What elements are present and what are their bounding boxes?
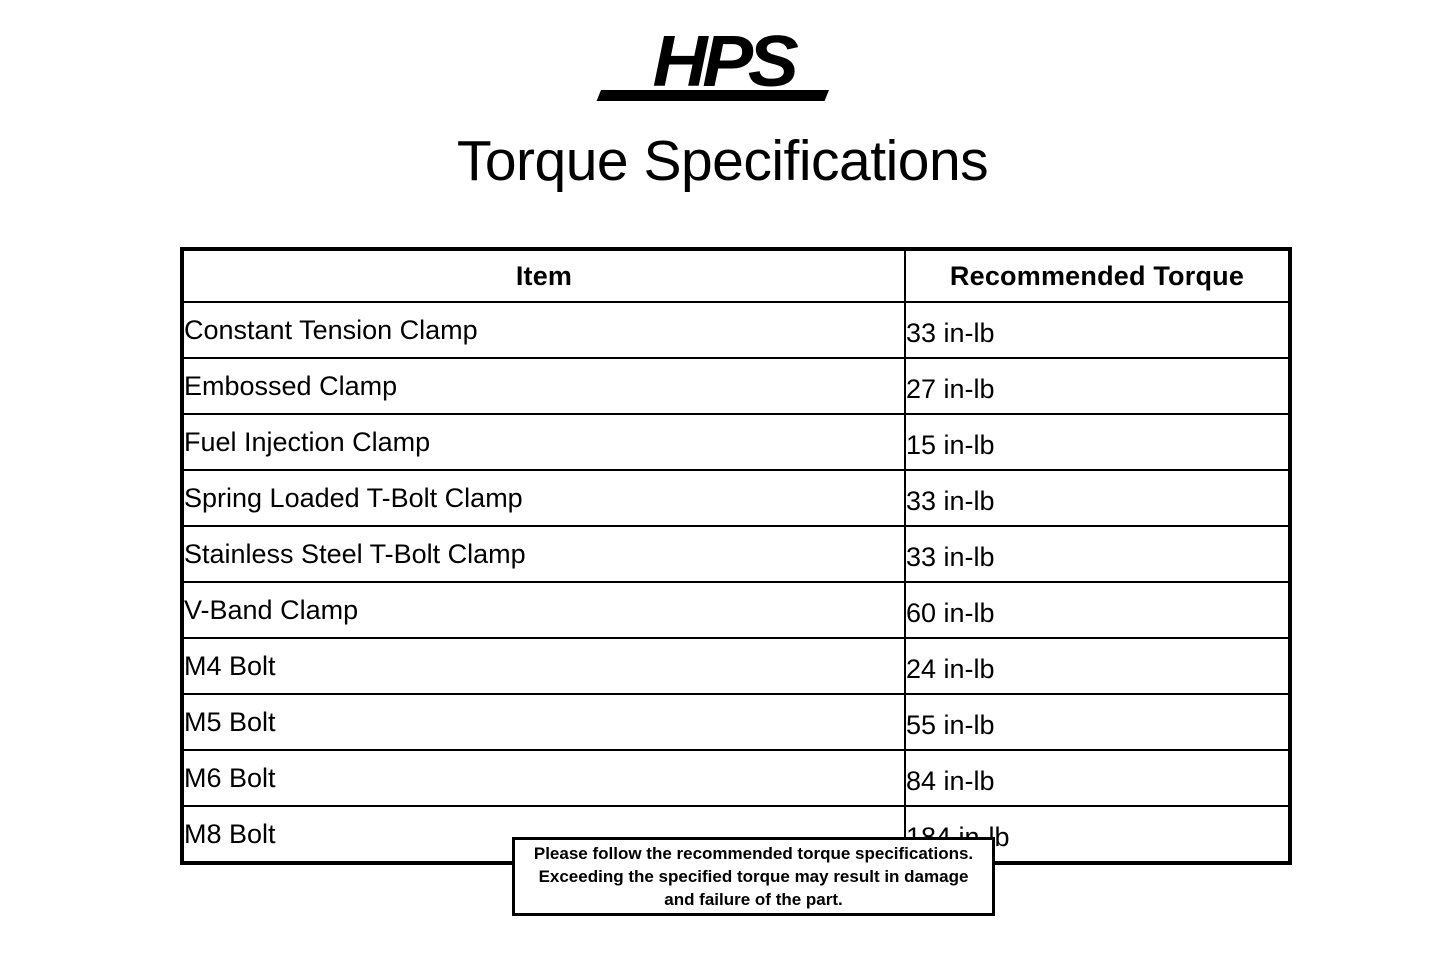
table-body: Constant Tension Clamp 33 in-lb Embossed… <box>182 302 1290 863</box>
cell-torque: 33 in-lb <box>905 470 1290 526</box>
table-row: Constant Tension Clamp 33 in-lb <box>182 302 1290 358</box>
page-title: Torque Specifications <box>0 128 1445 194</box>
hps-logo-underline-bar <box>596 90 828 101</box>
cell-item: Fuel Injection Clamp <box>182 414 905 470</box>
cell-torque: 33 in-lb <box>905 526 1290 582</box>
table-row: Fuel Injection Clamp 15 in-lb <box>182 414 1290 470</box>
cell-torque: 15 in-lb <box>905 414 1290 470</box>
cell-item: Embossed Clamp <box>182 358 905 414</box>
table-row: M6 Bolt 84 in-lb <box>182 750 1290 806</box>
hps-logo-wordmark: HPS <box>590 24 855 100</box>
note-line: Please follow the recommended torque spe… <box>534 842 973 865</box>
cell-item: Spring Loaded T-Bolt Clamp <box>182 470 905 526</box>
cell-torque: 84 in-lb <box>905 750 1290 806</box>
table-row: Embossed Clamp 27 in-lb <box>182 358 1290 414</box>
hps-logo: HPS <box>598 30 848 108</box>
table-row: M4 Bolt 24 in-lb <box>182 638 1290 694</box>
cell-item: Stainless Steel T-Bolt Clamp <box>182 526 905 582</box>
note-line: and failure of the part. <box>664 888 843 911</box>
note-line: Exceeding the specified torque may resul… <box>539 865 969 888</box>
cell-torque: 55 in-lb <box>905 694 1290 750</box>
cell-torque: 24 in-lb <box>905 638 1290 694</box>
logo-container: HPS <box>0 30 1445 110</box>
cell-item: V-Band Clamp <box>182 582 905 638</box>
torque-specifications-table: Item Recommended Torque Constant Tension… <box>180 247 1292 865</box>
cell-item: M4 Bolt <box>182 638 905 694</box>
cell-torque: 60 in-lb <box>905 582 1290 638</box>
table-row: M5 Bolt 55 in-lb <box>182 694 1290 750</box>
table-row: V-Band Clamp 60 in-lb <box>182 582 1290 638</box>
column-header-item: Item <box>182 249 905 302</box>
column-header-recommended-torque: Recommended Torque <box>905 249 1290 302</box>
cell-item: M5 Bolt <box>182 694 905 750</box>
cell-torque: 33 in-lb <box>905 302 1290 358</box>
warning-note-box: Please follow the recommended torque spe… <box>512 837 995 916</box>
table-row: Stainless Steel T-Bolt Clamp 33 in-lb <box>182 526 1290 582</box>
cell-item: M6 Bolt <box>182 750 905 806</box>
cell-item: Constant Tension Clamp <box>182 302 905 358</box>
table-row: Spring Loaded T-Bolt Clamp 33 in-lb <box>182 470 1290 526</box>
table-header-row: Item Recommended Torque <box>182 249 1290 302</box>
cell-torque: 27 in-lb <box>905 358 1290 414</box>
